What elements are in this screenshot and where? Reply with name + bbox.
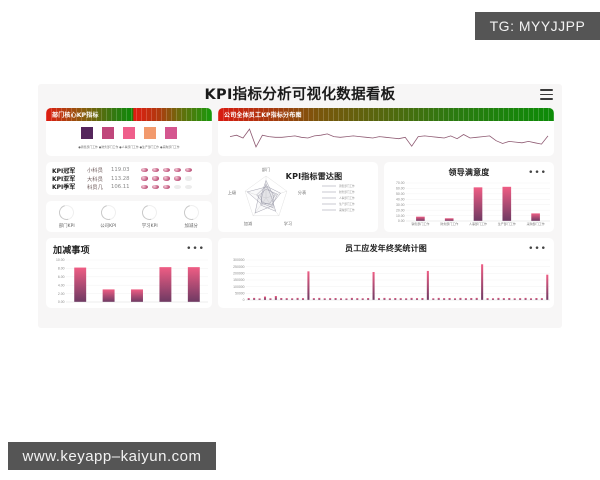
rank-label: KPI季军 [52, 182, 87, 191]
y-axis-tick: 50.00 [396, 192, 405, 196]
distribution-line-chart [218, 121, 554, 156]
x-axis-tick: 财务部门工作 [440, 221, 458, 226]
tg-watermark: TG: MYYJJPP [475, 12, 600, 40]
dashboard-header: KPI指标分析可视化数据看板 [38, 84, 562, 106]
kpi-donut-gauge[interactable]: 学习KPI [129, 201, 171, 232]
radar-legend-item: 生产部门工作 [339, 202, 355, 206]
radar-axis-label: 学习 [284, 220, 292, 227]
site-watermark: www.keyapp–kaiyun.com [8, 442, 216, 470]
y-axis-tick: 0.00 [58, 300, 65, 304]
donut-label: 公司KPI [88, 223, 130, 229]
x-axis-tick: 采购部门工作 [527, 221, 545, 226]
x-axis-tick: 生产部门工作 [498, 221, 516, 226]
more-dots-icon[interactable]: ••• [528, 245, 547, 254]
radar-chart-title: KPI指标雷达图 [274, 166, 354, 182]
dist-card-header: 公司全体员工KP指标分布图 [218, 108, 554, 121]
hamburger-menu-icon[interactable] [540, 89, 553, 100]
color-swatch-5 [165, 127, 177, 139]
more-dots-icon[interactable]: ••• [186, 245, 205, 254]
y-axis-tick: 10.00 [396, 214, 405, 218]
kpi-rank-row: KPI季军科员几106.11 [52, 183, 206, 191]
y-axis-tick: 40.00 [396, 197, 405, 201]
kpi-donut-gauge[interactable]: 加减分 [171, 201, 213, 232]
y-axis-tick: 70.00 [396, 181, 405, 185]
rank-value: 119.03 [111, 167, 139, 173]
x-axis-tick: 人事部门工作 [469, 221, 487, 226]
color-swatch-3 [123, 127, 135, 139]
radar-legend-item: 采购部门工作 [339, 208, 355, 212]
donut-label: 加减分 [171, 223, 213, 229]
rank-value: 106.11 [111, 184, 139, 190]
y-axis-tick: 150000 [233, 278, 244, 282]
rank-dot-meter [141, 185, 192, 189]
page-title: KPI指标分析可视化数据看板 [38, 84, 562, 106]
y-axis-tick: 50000 [235, 292, 245, 296]
donut-ring [140, 202, 160, 222]
donut-label: 部门KPI [46, 223, 88, 229]
y-axis-tick: 60.00 [396, 187, 405, 191]
color-swatch-row [46, 127, 212, 139]
color-swatch-2 [102, 127, 114, 139]
rank-name: 科员几 [87, 183, 111, 191]
rank-value: 113.28 [111, 176, 139, 182]
y-axis-tick: 0 [243, 298, 245, 302]
y-axis-tick: 0.00 [398, 219, 405, 223]
radar-legend-item: 财务部门工作 [339, 190, 355, 194]
y-axis-tick: 6.00 [58, 275, 65, 279]
kpi-donut-gauge[interactable]: 公司KPI [88, 201, 130, 232]
more-dots-icon[interactable]: ••• [528, 169, 547, 178]
kpi-donut-gauge[interactable]: 部门KPI [46, 201, 88, 232]
dashboard-row-3: 加减事项 ••• 10.008.006.004.002.000.00 员工应发年… [46, 238, 554, 308]
radar-axis-label: 部门 [262, 166, 270, 173]
rank-dot-meter [141, 176, 192, 180]
donut-label: 学习KPI [129, 223, 171, 229]
dashboard-grid: 部门核心KP指标 ●销售部门工作 ●财务部门工作 ●人事部门工作 ●生产部门工作… [46, 108, 554, 314]
y-axis-tick: 300000 [233, 258, 244, 262]
y-axis-tick: 200000 [233, 272, 244, 276]
radar-legend-item: 人事部门工作 [339, 196, 355, 200]
donut-ring [57, 202, 77, 222]
radar-chart-card[interactable]: 部门分表学习加减上级销售部门工作财务部门工作人事部门工作生产部门工作采购部门工作… [218, 162, 378, 232]
y-axis-tick: 2.00 [58, 292, 65, 296]
donut-ring [181, 202, 201, 222]
screenshot-root: TG: MYYJJPP www.keyapp–kaiyun.com KPI指标分… [0, 0, 600, 480]
rank-name: 大科员 [87, 175, 111, 183]
company-distribution-card[interactable]: 公司全体员工KP指标分布图 [218, 108, 554, 156]
kpi-donut-card[interactable]: 部门KPI公司KPI学习KPI加减分 [46, 201, 212, 232]
donut-ring [98, 202, 118, 222]
dept-core-kpi-card[interactable]: 部门核心KP指标 ●销售部门工作 ●财务部门工作 ●人事部门工作 ●生产部门工作… [46, 108, 212, 156]
y-axis-tick: 100000 [233, 285, 244, 289]
dashboard-row-1: 部门核心KP指标 ●销售部门工作 ●财务部门工作 ●人事部门工作 ●生产部门工作… [46, 108, 554, 156]
dashboard-canvas: KPI指标分析可视化数据看板 部门核心KP指标 ●销售部门工作 ●财务部门工作 … [38, 84, 562, 328]
color-swatch-4 [144, 127, 156, 139]
radar-legend-item: 销售部门工作 [339, 184, 355, 188]
color-swatch-1 [81, 127, 93, 139]
y-axis-tick: 10.00 [56, 258, 65, 262]
dept-legend: ●销售部门工作 ●财务部门工作 ●人事部门工作 ●生产部门工作 ●采购部门工作 [46, 145, 212, 149]
dashboard-row-2: KPI冠军小科员119.03KPI亚军大科员113.28KPI季军科员几106.… [46, 162, 554, 232]
left-column: KPI冠军小科员119.03KPI亚军大科员113.28KPI季军科员几106.… [46, 162, 212, 232]
x-axis-tick: 销售部门工作 [411, 221, 429, 226]
satisfaction-chart-card[interactable]: 领导满意度 ••• 70.0060.0050.0040.0030.0020.00… [384, 162, 554, 232]
rank-name: 小科员 [87, 166, 111, 174]
bonus-chart-title: 员工应发年终奖统计图 [218, 238, 554, 254]
bonus-chart-card[interactable]: 员工应发年终奖统计图 ••• 3000002500002000001500001… [218, 238, 554, 308]
adjust-items-card[interactable]: 加减事项 ••• 10.008.006.004.002.000.00 [46, 238, 212, 308]
kpi-ranking-card[interactable]: KPI冠军小科员119.03KPI亚军大科员113.28KPI季军科员几106.… [46, 162, 212, 195]
radar-axis-label: 上级 [228, 189, 237, 196]
y-axis-tick: 30.00 [396, 203, 405, 207]
radar-axis-label: 加减 [244, 220, 253, 227]
y-axis-tick: 8.00 [58, 267, 65, 271]
y-axis-tick: 4.00 [58, 283, 65, 287]
dept-card-header: 部门核心KP指标 [46, 108, 212, 121]
y-axis-tick: 250000 [233, 265, 244, 269]
rank-dot-meter [141, 168, 192, 172]
radar-axis-label: 分表 [298, 189, 307, 196]
y-axis-tick: 20.00 [396, 208, 405, 212]
